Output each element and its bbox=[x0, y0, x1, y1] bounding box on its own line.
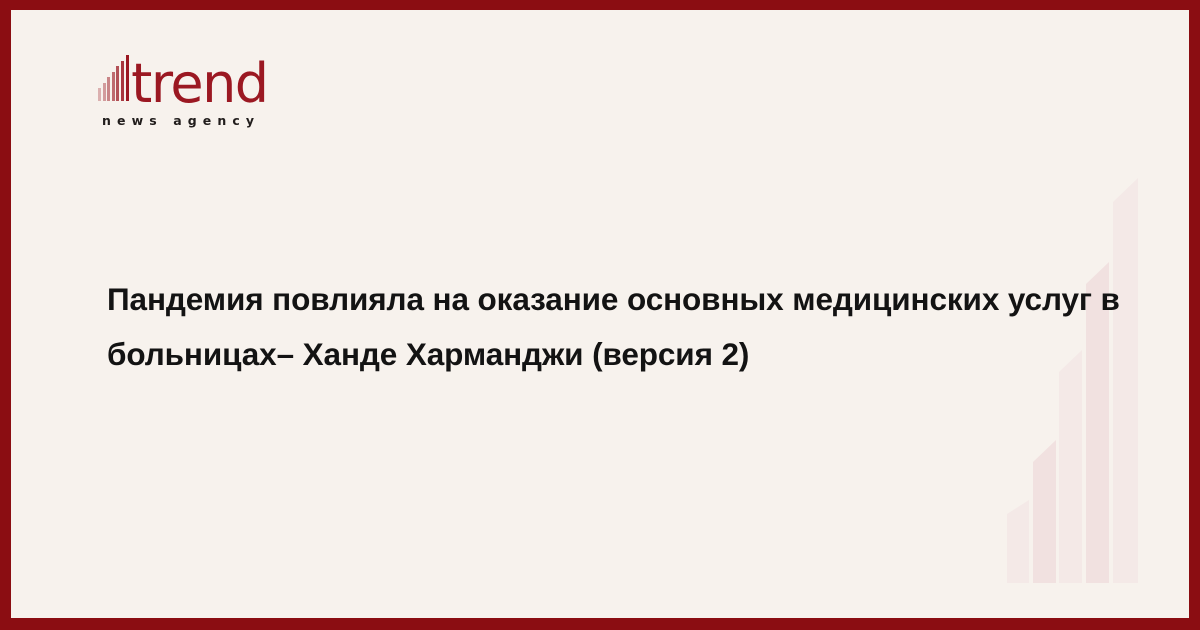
article-headline: Пандемия повлияла на оказание основных м… bbox=[107, 272, 1125, 382]
logo-bar-1 bbox=[98, 88, 101, 101]
watermark-bar-3 bbox=[1059, 350, 1082, 583]
watermark-bar-2 bbox=[1033, 440, 1056, 583]
ascending-bars-icon bbox=[98, 55, 130, 104]
logo-bar-6 bbox=[121, 61, 124, 101]
logo-bar-7 bbox=[126, 55, 129, 101]
watermark-bar-1 bbox=[1007, 500, 1029, 583]
logo-bar-2 bbox=[103, 83, 106, 101]
card-canvas: trend news agency Пандемия повлияла на о… bbox=[11, 10, 1189, 618]
logo-bar-4 bbox=[112, 72, 115, 101]
news-card: trend news agency Пандемия повлияла на о… bbox=[0, 0, 1200, 630]
logo-wordmark: trend bbox=[131, 62, 267, 106]
logo-bar-3 bbox=[107, 77, 110, 101]
trend-logo[interactable]: trend news agency bbox=[98, 48, 418, 128]
logo-mark-row: trend bbox=[98, 48, 418, 104]
logo-tagline: news agency bbox=[102, 113, 418, 128]
logo-bar-5 bbox=[116, 66, 119, 101]
